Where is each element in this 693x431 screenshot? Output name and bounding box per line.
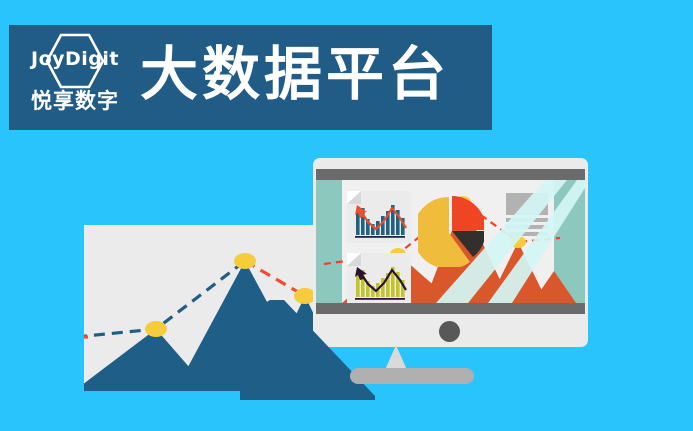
bar-chart-card-blue-icon: [347, 191, 411, 243]
bar-chart-card-olive-icon: [347, 253, 411, 303]
brand-logo[interactable]: JoyDigit 悦享数字: [23, 31, 127, 123]
text-block-line: [506, 218, 548, 222]
mountain-front-body: [240, 300, 375, 400]
monitor-screen[interactable]: [316, 180, 585, 303]
text-block-line: [506, 232, 548, 236]
pie-chart-icon[interactable]: [418, 195, 484, 267]
bar-chart-card-olive[interactable]: [347, 253, 411, 303]
monitor-top-bezel: [316, 169, 585, 180]
pie-slice-segment-b[interactable]: [452, 196, 484, 230]
brand-logo-latin-text: JoyDigit: [23, 50, 127, 69]
power-button-circle-icon[interactable]: [439, 321, 460, 342]
page-title: 大数据平台: [140, 41, 450, 108]
brand-logo-chinese-text: 悦享数字: [23, 91, 127, 112]
data-point-marker[interactable]: [234, 253, 256, 269]
text-placeholder-block: [506, 193, 548, 235]
monitor-stand-base: [350, 368, 474, 384]
bar-chart-card-blue[interactable]: [347, 191, 411, 243]
text-block-line: [506, 225, 548, 229]
text-block-heading-bar: [506, 193, 548, 215]
monitor-stand-neck: [385, 345, 407, 370]
poster-canvas: JoyDigit 悦享数字 大数据平台: [0, 0, 693, 431]
mountain-shape-front: [240, 300, 380, 400]
header-banner: JoyDigit 悦享数字 大数据平台: [9, 25, 492, 130]
data-point-marker[interactable]: [510, 236, 526, 248]
data-point-marker[interactable]: [145, 321, 167, 337]
